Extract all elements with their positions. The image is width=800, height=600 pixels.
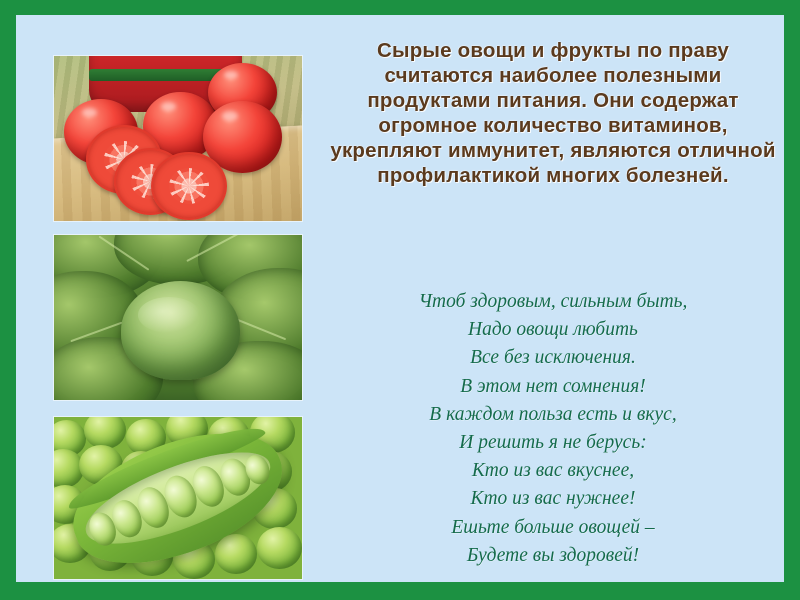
cabbage-scene xyxy=(54,235,302,400)
cabbage-head xyxy=(121,281,240,380)
poem-line: Будете вы здоровей! xyxy=(328,542,778,570)
poem-line: Кто из вас нужнее! xyxy=(328,485,778,513)
poem-line: Ешьте больше овощей – xyxy=(328,514,778,542)
poem-line: Все без исключения. xyxy=(328,344,778,372)
tomato-slice-front xyxy=(151,152,227,220)
poem-line: Кто из вас вкуснее, xyxy=(328,457,778,485)
text-column: Сырые овощи и фрукты по праву считаются … xyxy=(318,15,784,582)
loose-pea xyxy=(257,527,302,569)
photo-peas xyxy=(54,417,302,579)
vegetable-health-poster: Сырые овощи и фрукты по праву считаются … xyxy=(0,0,800,600)
tomatoes-scene xyxy=(54,56,302,221)
photo-cabbage xyxy=(54,235,302,400)
poem-line: Надо овощи любить xyxy=(328,316,778,344)
peas-scene xyxy=(54,417,302,579)
poem-line: В этом нет сомнения! xyxy=(328,373,778,401)
poem-line: Чтоб здоровым, сильным быть, xyxy=(328,288,778,316)
poster-inner-panel: Сырые овощи и фрукты по праву считаются … xyxy=(16,15,784,582)
poster-heading: Сырые овощи и фрукты по праву считаются … xyxy=(328,38,778,188)
poem-line: В каждом польза есть и вкус, xyxy=(328,401,778,429)
poem-line: И решить я не берусь: xyxy=(328,429,778,457)
photo-tomatoes xyxy=(54,56,302,221)
poem-block: Чтоб здоровым, сильным быть, Надо овощи … xyxy=(328,288,778,570)
